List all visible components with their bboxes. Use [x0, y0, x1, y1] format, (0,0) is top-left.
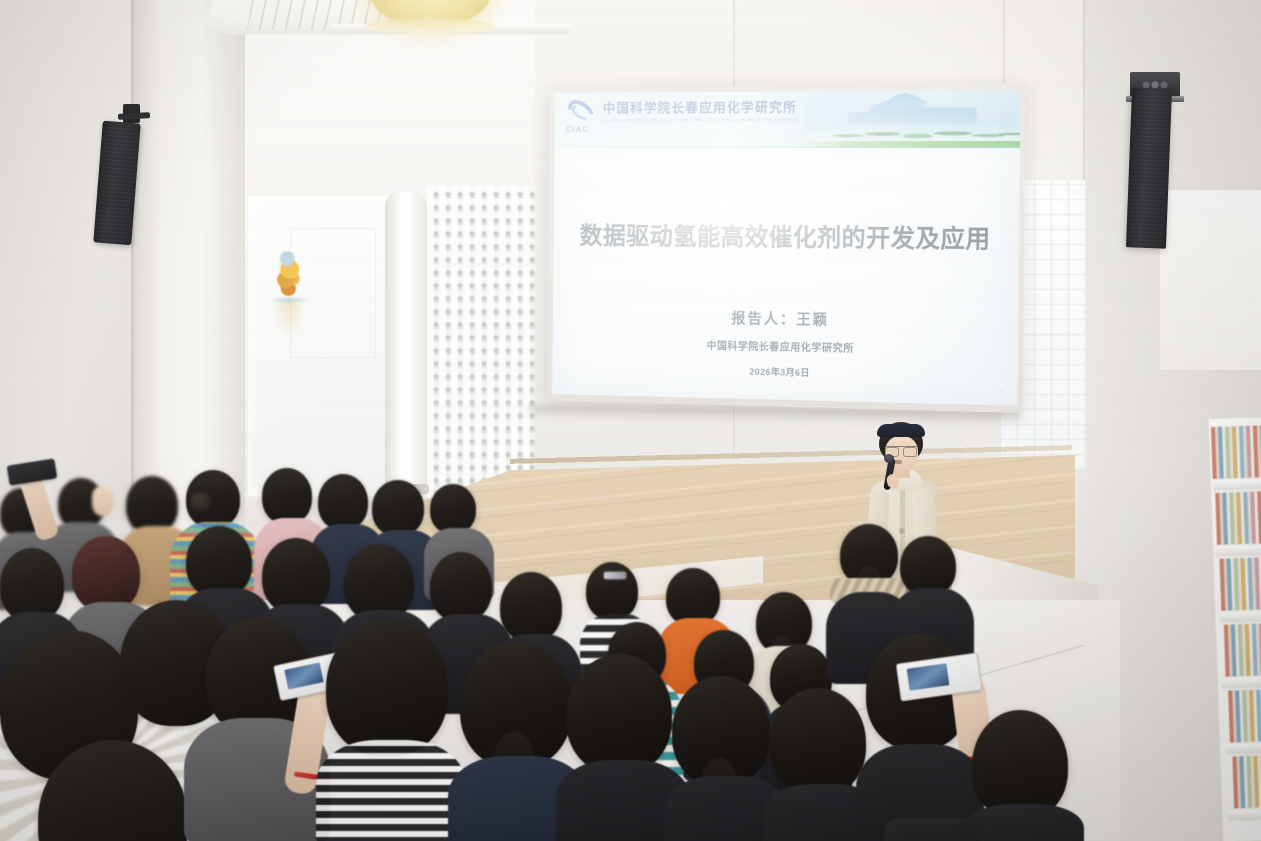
- presentation-slide: CIAC 中国科学院长春应用化学研究所 CHANGCHUN INSTITUTE …: [552, 90, 1020, 406]
- speaker-grille: [96, 124, 137, 242]
- attendee-head: [318, 474, 368, 530]
- shelf-plank: [1213, 479, 1261, 490]
- attendee-head-foreground: [566, 654, 672, 774]
- slide-speaker-line: 报告人：王颖: [553, 304, 1019, 332]
- sculpture-base: [268, 296, 310, 304]
- banner-institute-photo: [804, 90, 1021, 148]
- projection-screen-frame: CIAC 中国科学院长春应用化学研究所 CHANGCHUN INSTITUTE …: [547, 84, 1026, 413]
- right-wall-speaker: [1126, 87, 1172, 248]
- attendee-head: [72, 536, 140, 612]
- institute-roof-icon: [883, 93, 928, 106]
- attendee-bag: [884, 818, 980, 841]
- shelf-plank: [1228, 809, 1261, 820]
- slide-page-number: 1: [1000, 390, 1004, 397]
- shelf-plank: [1215, 545, 1261, 556]
- shelf-books: [1215, 491, 1261, 545]
- attendee-head: [372, 480, 424, 536]
- logo-name-en: CHANGCHUN INSTITUTE OF APPLIED CHEMISTRY…: [603, 118, 799, 123]
- sculpture-reflection: [272, 300, 306, 338]
- logo-text-group: 中国科学院长春应用化学研究所 CHANGCHUN INSTITUTE OF AP…: [603, 99, 799, 122]
- attendee-hair-bun: [190, 492, 212, 512]
- shelf-plank: [1219, 611, 1261, 622]
- attendee-head: [900, 536, 956, 596]
- decorative-sculpture: [272, 250, 306, 298]
- attendee-head-foreground: [326, 620, 448, 756]
- upper-right-wall-panel: [1160, 190, 1261, 370]
- shelf-books: [1211, 425, 1261, 479]
- attendee-head: [586, 562, 638, 620]
- shelf-plank: [1222, 677, 1261, 688]
- attendee-head: [0, 548, 64, 622]
- seated-audience: [0, 440, 1120, 841]
- attendee-head: [500, 572, 562, 642]
- institute-logo-block: CIAC 中国科学院长春应用化学研究所 CHANGCHUN INSTITUTE …: [565, 99, 798, 133]
- shelf-books: [1220, 557, 1261, 611]
- attendee-body: [964, 804, 1084, 841]
- presenter-headband: [877, 424, 925, 437]
- logo-name-cn: 中国科学院长春应用化学研究所: [603, 101, 799, 116]
- slide-affiliation: 中国科学院长春应用化学研究所: [553, 335, 1019, 359]
- slide-header-banner: CIAC 中国科学院长春应用化学研究所 CHANGCHUN INSTITUTE …: [554, 90, 1020, 148]
- phone-recording: [7, 458, 58, 485]
- ciac-swoosh-logo-icon: CIAC: [565, 100, 596, 133]
- attendee-head: [430, 484, 476, 534]
- attendee-head-foreground: [770, 688, 866, 796]
- pendant-lamp-rim: [365, 18, 496, 34]
- attendee-head: [262, 538, 330, 614]
- attendee-body-striped: [316, 740, 466, 841]
- shelf-books: [1232, 755, 1261, 809]
- speaker-grille: [1129, 90, 1169, 245]
- shelf-plank: [1226, 743, 1261, 754]
- attendee-head: [430, 552, 492, 622]
- slide-body: 数据驱动氢能高效催化剂的开发及应用 报告人：王颖 中国科学院长春应用化学研究所 …: [552, 148, 1020, 406]
- slide-date: 2026年3月6日: [552, 360, 1017, 384]
- hair-clip: [604, 572, 626, 579]
- banner-trees: [825, 120, 1020, 142]
- shelf-books: [1224, 623, 1261, 677]
- lecture-hall-photo: CIAC 中国科学院长春应用化学研究所 CHANGCHUN INSTITUTE …: [0, 0, 1261, 841]
- logo-acronym: CIAC: [565, 124, 589, 134]
- attendee-head: [262, 468, 312, 524]
- shelf-books: [1228, 689, 1261, 743]
- slide-title: 数据驱动氢能高效催化剂的开发及应用: [553, 217, 1019, 256]
- attendee-face: [92, 486, 114, 516]
